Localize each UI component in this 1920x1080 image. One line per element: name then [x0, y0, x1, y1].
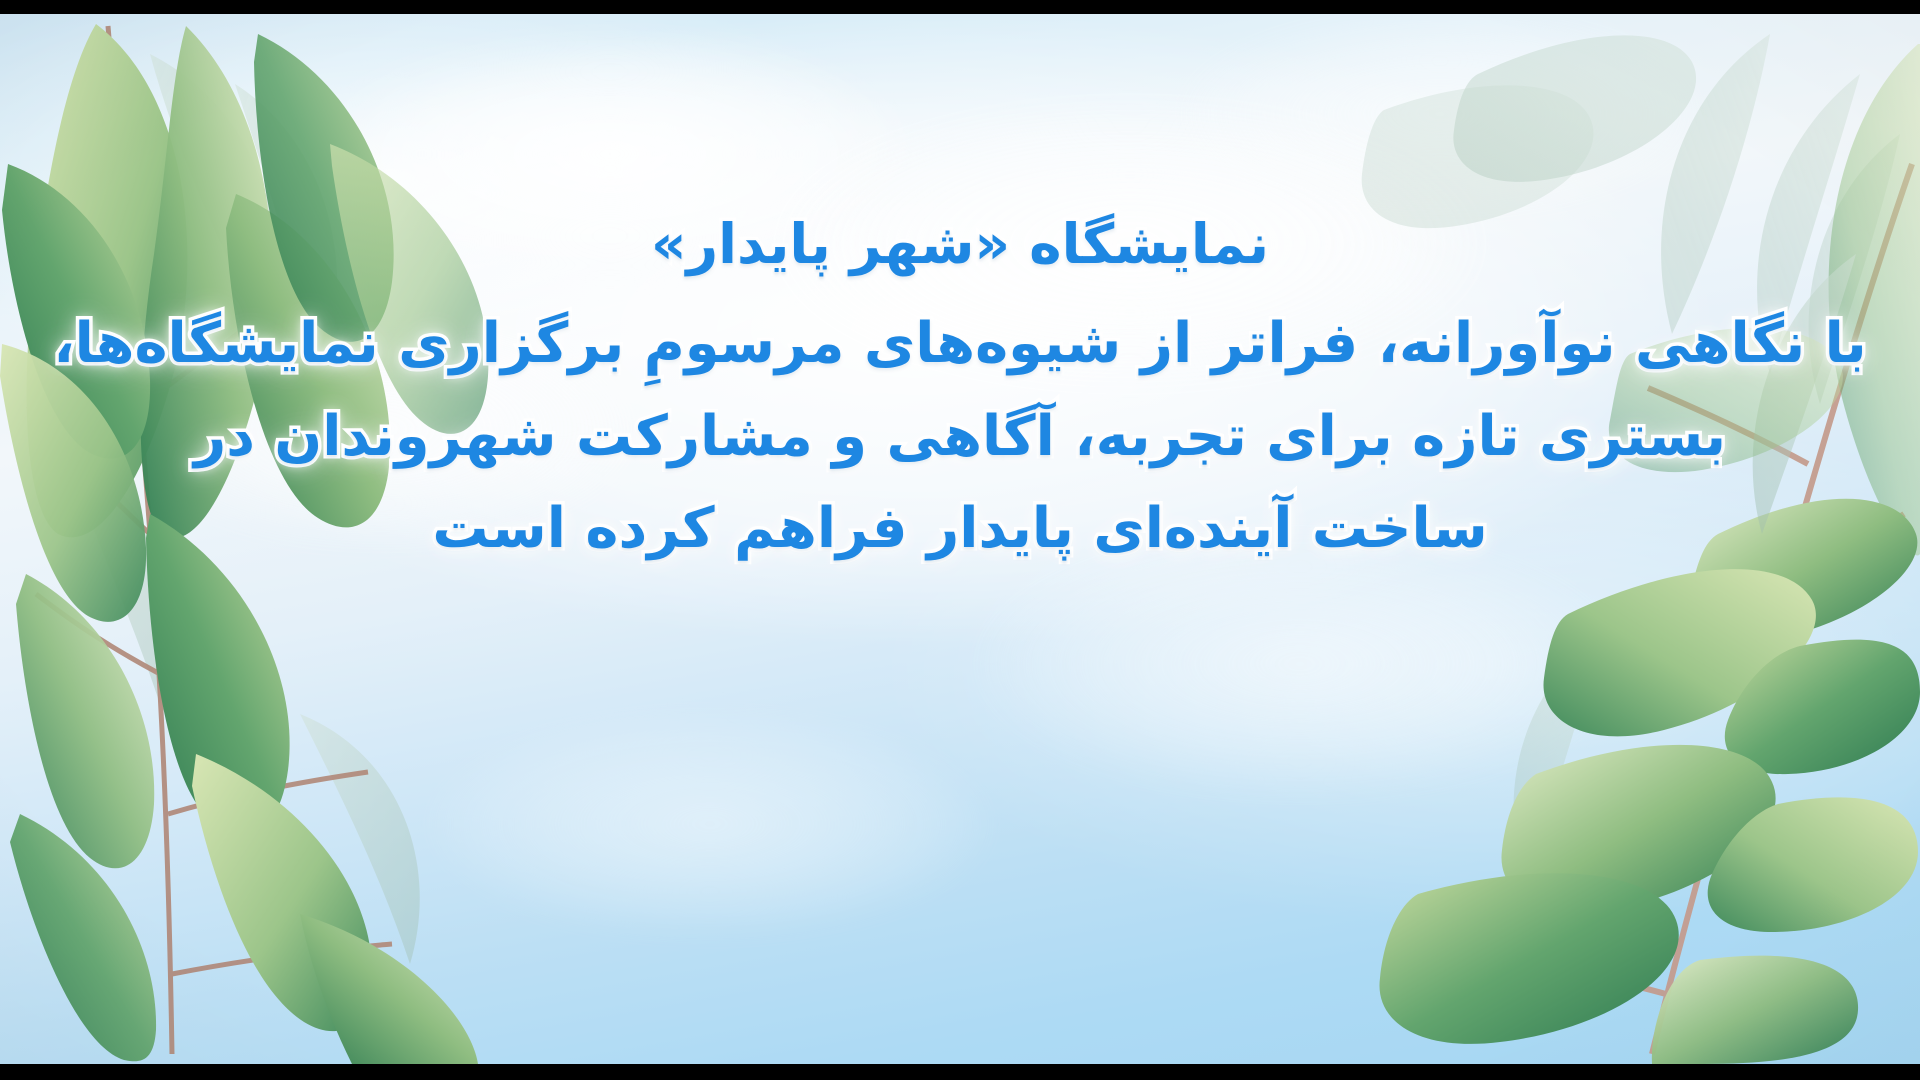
- video-slide-stage: نمایشگاه «شهر پایدار» با نگاهی نوآورانه،…: [0, 0, 1920, 1080]
- subtitle-caption-block: نمایشگاه «شهر پایدار» با نگاهی نوآورانه،…: [0, 14, 1920, 1064]
- letterbox-bar-top: [0, 0, 1920, 14]
- caption-line-2: با نگاهی نوآورانه، فراتر از شیوه‌های مرس…: [43, 309, 1876, 380]
- letterbox-bar-bottom: [0, 1064, 1920, 1080]
- caption-line-1: نمایشگاه «شهر پایدار»: [641, 210, 1279, 279]
- caption-line-3: بستری تازه برای تجربه، آگاهی و مشارکت شه…: [184, 402, 1736, 473]
- video-frame: نمایشگاه «شهر پایدار» با نگاهی نوآورانه،…: [0, 14, 1920, 1064]
- caption-line-4: ساخت آینده‌ای پایدار فراهم کرده است: [422, 494, 1497, 565]
